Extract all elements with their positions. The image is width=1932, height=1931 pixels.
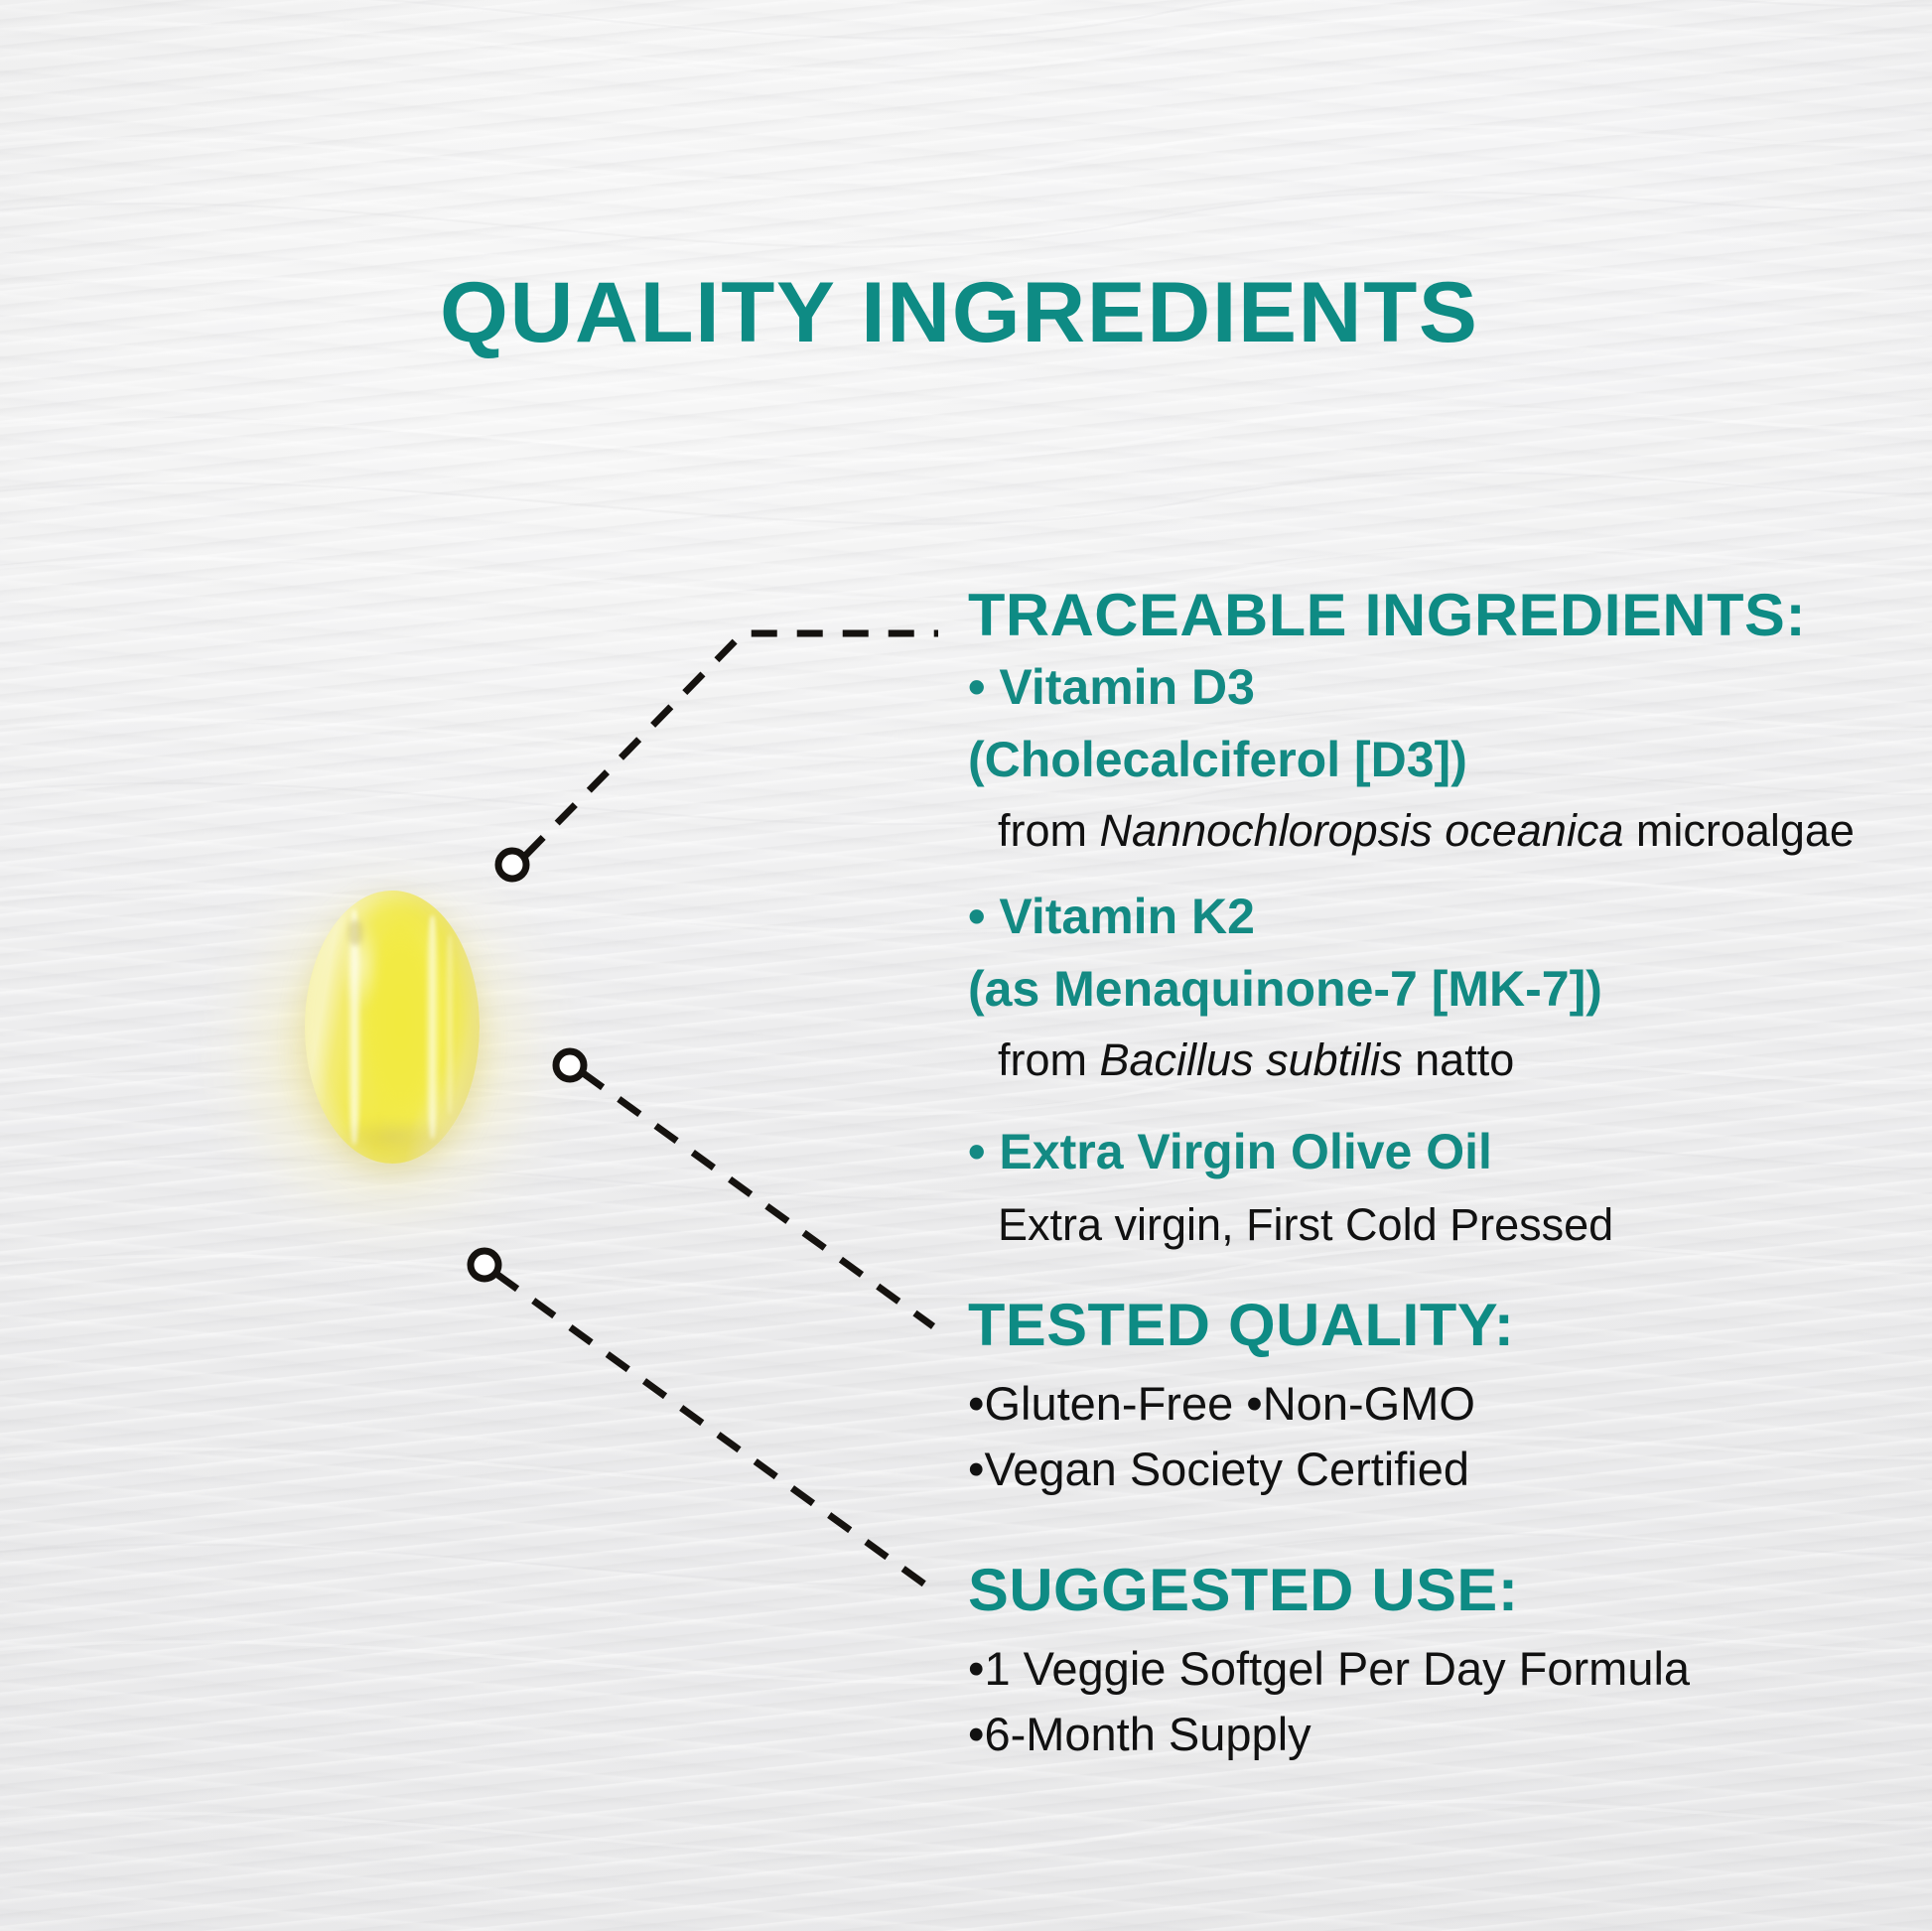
capsule-notch xyxy=(348,920,362,945)
ingredient-source: from Bacillus subtilis natto xyxy=(998,1037,1602,1082)
ingredient-source-species: Nannochloropsis oceanica xyxy=(1100,805,1624,856)
softgel-capsule-image xyxy=(159,755,635,1350)
ingredient-name: Vitamin D3 xyxy=(999,659,1255,715)
page-title: QUALITY INGREDIENTS xyxy=(440,270,1478,355)
ingredient-name-line: • Vitamin D3 xyxy=(968,662,1855,712)
tested-quality-line: •Vegan Society Certified xyxy=(968,1446,1504,1492)
ingredient-form: (Cholecalciferol [D3]) xyxy=(968,735,1855,784)
ingredient-item-olive-oil: • Extra Virgin Olive Oil Extra virgin, F… xyxy=(968,1127,1613,1247)
ingredient-bullet: • xyxy=(968,659,986,715)
suggested-use-line: •1 Veggie Softgel Per Day Formula xyxy=(968,1645,1690,1692)
infographic-canvas: QUALITY INGREDIENTS TRACEABLE INGREDIENT… xyxy=(0,0,1932,1931)
ingredient-name-line: • Vitamin K2 xyxy=(968,892,1602,941)
ingredient-bullet: • xyxy=(968,1124,986,1179)
ingredient-name: Extra Virgin Olive Oil xyxy=(999,1124,1491,1179)
ingredient-name: Vitamin K2 xyxy=(999,889,1255,944)
ingredient-item-vitamin-k2: • Vitamin K2 (as Menaquinone-7 [MK-7]) f… xyxy=(968,892,1602,1082)
ingredient-source-suffix: natto xyxy=(1403,1034,1515,1085)
ingredient-source: Extra virgin, First Cold Pressed xyxy=(998,1202,1613,1247)
ingredient-source-suffix: microalgae xyxy=(1623,805,1855,856)
ingredient-form: (as Menaquinone-7 [MK-7]) xyxy=(968,964,1602,1014)
capsule-specular-highlight xyxy=(340,918,385,1034)
section-tested-quality: TESTED QUALITY: •Gluten-Free •Non-GMO •V… xyxy=(968,1296,1504,1492)
section-traceable-ingredients: TRACEABLE INGREDIENTS: xyxy=(968,586,1790,645)
capsule-rib-right-outer xyxy=(445,934,456,1115)
suggested-use-line: •6-Month Supply xyxy=(968,1711,1690,1757)
tested-quality-heading: TESTED QUALITY: xyxy=(968,1296,1515,1355)
ingredient-bullet: • xyxy=(968,889,986,944)
section-suggested-use: SUGGESTED USE: •1 Veggie Softgel Per Day… xyxy=(968,1561,1690,1757)
ingredient-source: from Nannochloropsis oceanica microalgae xyxy=(998,808,1855,853)
capsule-bottom-shadow xyxy=(333,1115,452,1159)
ingredient-name-line: • Extra Virgin Olive Oil xyxy=(968,1127,1613,1176)
ingredient-source-prefix: from xyxy=(998,805,1100,856)
capsule-rib-right xyxy=(425,915,439,1140)
ingredient-source-prefix: from xyxy=(998,1034,1100,1085)
tested-quality-line: •Gluten-Free •Non-GMO xyxy=(968,1380,1504,1427)
ingredient-source-species: Bacillus subtilis xyxy=(1100,1034,1403,1085)
traceable-heading: TRACEABLE INGREDIENTS: xyxy=(968,586,1806,645)
capsule-body xyxy=(305,891,480,1164)
ingredient-item-vitamin-d3: • Vitamin D3 (Cholecalciferol [D3]) from… xyxy=(968,662,1855,853)
suggested-use-heading: SUGGESTED USE: xyxy=(968,1561,1705,1620)
